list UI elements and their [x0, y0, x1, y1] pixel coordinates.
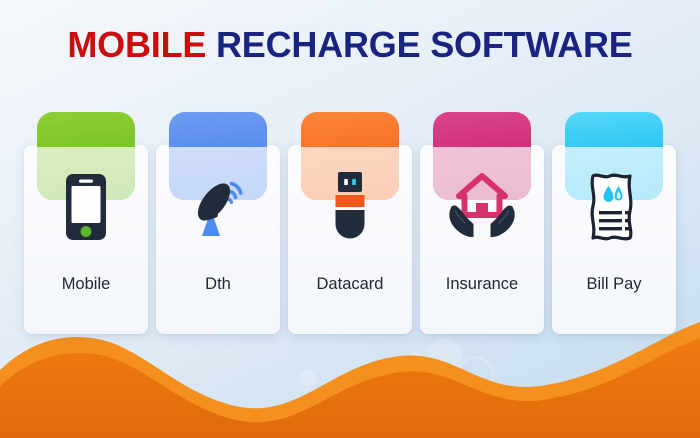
card-label-dth: Dth: [156, 275, 280, 294]
title-part-mobile: MOBILE: [67, 24, 206, 65]
bill-invoice-icon: [552, 164, 676, 250]
service-card-mobile[interactable]: Mobile: [24, 112, 148, 334]
usb-datacard-icon: [288, 164, 412, 250]
page-title: MOBILE RECHARGE SOFTWARE: [0, 24, 700, 66]
card-label-mobile: Mobile: [24, 275, 148, 294]
service-card-datacard[interactable]: Datacard: [288, 112, 412, 334]
title-part-recharge-software: RECHARGE SOFTWARE: [216, 24, 633, 65]
service-card-dth[interactable]: Dth: [156, 112, 280, 334]
card-label-insurance: Insurance: [420, 275, 544, 294]
card-label-datacard: Datacard: [288, 275, 412, 294]
service-card-insurance[interactable]: Insurance: [420, 112, 544, 334]
hands-holding-house-icon: [420, 164, 544, 250]
poster-canvas: MOBILE RECHARGE SOFTWARE Mobile: [0, 0, 700, 438]
service-card-row: Mobile: [24, 112, 676, 334]
service-card-bill-pay[interactable]: Bill Pay: [552, 112, 676, 334]
mobile-phone-icon: [24, 164, 148, 250]
card-label-bill-pay: Bill Pay: [552, 275, 676, 294]
satellite-dish-icon: [156, 164, 280, 250]
